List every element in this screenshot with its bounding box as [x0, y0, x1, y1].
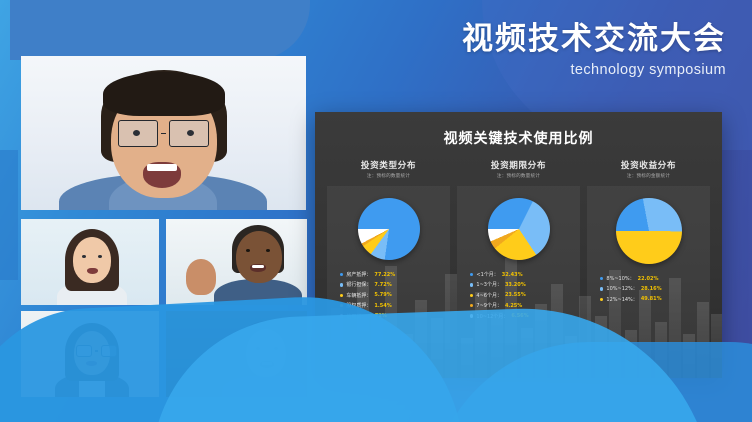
- legend-label: 10~12个月：: [476, 313, 508, 320]
- legend-color-swatch: [470, 314, 473, 317]
- shared-screen-panel[interactable]: 视频关键技术使用比例 投资类型分布注：预标的数量统计房产抵押：77.22%银行担…: [315, 112, 722, 378]
- legend-value: 49.81%: [641, 296, 662, 302]
- legend-label: 12%~14%：: [606, 296, 637, 303]
- legend-color-swatch: [600, 298, 603, 301]
- chart-column-heading: 投资收益分布: [621, 159, 676, 171]
- legend-label: 1~3个月：: [476, 281, 502, 288]
- legend-label: 4~6个月：: [476, 292, 502, 299]
- pie-chart: [488, 198, 550, 260]
- legend-color-swatch: [470, 273, 473, 276]
- chart-legend: 8%~10%：22.02%10%~12%：28.16%12%~14%：49.81…: [587, 275, 710, 306]
- decorative-rounded-block: [10, 0, 310, 60]
- legend-color-swatch: [600, 287, 603, 290]
- video-conference-slide: 视频技术交流大会 technology symposium 视频关键技术使用比例…: [0, 0, 752, 422]
- legend-item: 8%~10%：22.02%: [600, 275, 710, 282]
- legend-color-swatch: [470, 304, 473, 307]
- legend-label: <1个月：: [476, 271, 498, 278]
- legend-value: 77.22%: [374, 272, 395, 278]
- chart-column-2: 投资期限分布注：预标的数量统计<1个月：32.43%1~3个月：33.20%4~…: [457, 159, 580, 343]
- legend-label: 房产抵押：: [346, 271, 371, 278]
- legend-color-swatch: [340, 273, 343, 276]
- legend-value: 23.55%: [505, 292, 526, 298]
- legend-label: 信用贷：: [346, 313, 366, 320]
- pie-chart: [616, 198, 682, 264]
- slide-title: 视频关键技术使用比例: [315, 128, 722, 148]
- participant-tile-1[interactable]: [21, 219, 159, 305]
- legend-label: 银行担保：: [346, 281, 371, 288]
- legend-item: 1~3个月：33.20%: [470, 281, 580, 288]
- speaker-glasses: [118, 120, 209, 147]
- legend-label: 10%~12%：: [606, 285, 637, 292]
- legend-value: 32.43%: [502, 272, 523, 278]
- legend-label: 股权质押：: [346, 302, 371, 309]
- slide-content: 视频关键技术使用比例 投资类型分布注：预标的数量统计房产抵押：77.22%银行担…: [315, 112, 722, 378]
- legend-value: 1.54%: [374, 303, 391, 309]
- chart-column-3: 投资收益分布注：预标的金额统计8%~10%：22.02%10%~12%：28.1…: [587, 159, 710, 343]
- legend-value: 22.02%: [638, 276, 659, 282]
- main-video-scene: [21, 56, 306, 210]
- chart-column-heading: 投资类型分布: [361, 159, 416, 171]
- legend-value: 28.16%: [641, 286, 662, 292]
- participant-tile-3[interactable]: [21, 311, 159, 397]
- legend-color-swatch: [340, 283, 343, 286]
- chart-legend: 房产抵押：77.22%银行担保：7.72%车辆抵押：5.79%股权质押：1.54…: [327, 271, 450, 323]
- legend-label: 车辆抵押：: [346, 292, 371, 299]
- decorative-left-edge: [0, 150, 18, 280]
- legend-color-swatch: [470, 283, 473, 286]
- main-video-tile[interactable]: [21, 56, 306, 210]
- pie-chart: [358, 198, 420, 260]
- event-title-en: technology symposium: [462, 62, 726, 78]
- participant-video-scene: [166, 311, 307, 397]
- legend-value: 33.20%: [505, 282, 526, 288]
- legend-value: 4.25%: [505, 303, 522, 309]
- legend-value: 7.72%: [369, 313, 386, 319]
- chart-card: 房产抵押：77.22%银行担保：7.72%车辆抵押：5.79%股权质押：1.54…: [327, 186, 450, 343]
- legend-label: 7~9个月：: [476, 302, 502, 309]
- legend-item: 10~12个月：6.56%: [470, 313, 580, 320]
- participant-video-scene: [21, 219, 159, 305]
- legend-value: 6.56%: [511, 313, 528, 319]
- chart-legend: <1个月：32.43%1~3个月：33.20%4~6个月：23.55%7~9个月…: [457, 271, 580, 323]
- chart-column-note: 注：预标的金额统计: [627, 173, 670, 179]
- chart-column-note: 注：预标的数量统计: [367, 173, 410, 179]
- legend-color-swatch: [600, 277, 603, 280]
- legend-item: 银行担保：7.72%: [340, 281, 450, 288]
- participant-tile-2[interactable]: [166, 219, 307, 305]
- legend-item: 4~6个月：23.55%: [470, 292, 580, 299]
- legend-item: 10%~12%：28.16%: [600, 285, 710, 292]
- chart-column-heading: 投资期限分布: [491, 159, 546, 171]
- chart-columns: 投资类型分布注：预标的数量统计房产抵押：77.22%银行担保：7.72%车辆抵押…: [327, 159, 710, 343]
- event-title-cn: 视频技术交流大会: [462, 22, 726, 56]
- legend-item: 信用贷：7.72%: [340, 313, 450, 320]
- legend-color-swatch: [340, 294, 343, 297]
- chart-column-1: 投资类型分布注：预标的数量统计房产抵押：77.22%银行担保：7.72%车辆抵押…: [327, 159, 450, 343]
- legend-item: 车辆抵押：5.79%: [340, 292, 450, 299]
- legend-item: 股权质押：1.54%: [340, 302, 450, 309]
- participant-tile-4[interactable]: [166, 311, 307, 397]
- participant-glasses: [76, 345, 117, 357]
- legend-color-swatch: [340, 314, 343, 317]
- chart-card: <1个月：32.43%1~3个月：33.20%4~6个月：23.55%7~9个月…: [457, 186, 580, 343]
- legend-item: 12%~14%：49.81%: [600, 296, 710, 303]
- event-title-block: 视频技术交流大会 technology symposium: [462, 22, 726, 78]
- legend-item: <1个月：32.43%: [470, 271, 580, 278]
- legend-value: 7.72%: [374, 282, 391, 288]
- legend-color-swatch: [470, 294, 473, 297]
- participant-video-scene: [21, 311, 159, 397]
- participant-video-scene: [166, 219, 307, 305]
- legend-item: 7~9个月：4.25%: [470, 302, 580, 309]
- legend-label: 8%~10%：: [606, 275, 634, 282]
- chart-column-note: 注：预标的数量统计: [497, 173, 540, 179]
- legend-item: 房产抵押：77.22%: [340, 271, 450, 278]
- legend-color-swatch: [340, 304, 343, 307]
- legend-value: 5.79%: [374, 292, 391, 298]
- chart-card: 8%~10%：22.02%10%~12%：28.16%12%~14%：49.81…: [587, 186, 710, 343]
